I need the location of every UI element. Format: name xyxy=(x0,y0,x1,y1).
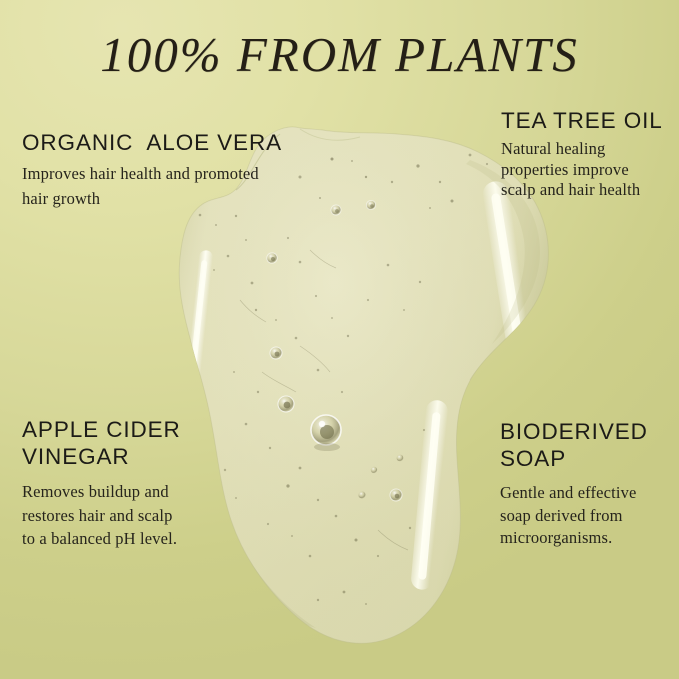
ingredient-heading-apple-cider-vinegar: APPLE CIDER VINEGAR xyxy=(22,416,262,470)
ingredient-heading-bioderived-soap: BIODERIVED SOAP xyxy=(500,418,676,472)
ingredient-body-bioderived-soap: Gentle and effective soap derived from m… xyxy=(500,482,676,550)
product-ingredients-infographic: 100% FROM PLANTS ORGANIC ALOE VERA Impro… xyxy=(0,0,679,679)
ingredient-block-bioderived-soap: BIODERIVED SOAP Gentle and effective soa… xyxy=(500,418,676,550)
ingredient-block-apple-cider-vinegar: APPLE CIDER VINEGAR Removes buildup and … xyxy=(22,416,262,551)
gel-bubble-large xyxy=(311,415,341,451)
ingredient-body-organic-aloe-vera: Improves hair health and promoted hair g… xyxy=(22,162,322,211)
page-title: 100% FROM PLANTS xyxy=(0,26,679,83)
ingredient-body-apple-cider-vinegar: Removes buildup and restores hair and sc… xyxy=(22,480,262,551)
ingredient-block-tea-tree-oil: TEA TREE OIL Natural healing properties … xyxy=(501,107,676,201)
ingredient-block-organic-aloe-vera: ORGANIC ALOE VERA Improves hair health a… xyxy=(22,129,322,211)
gel-blob-svg xyxy=(0,0,679,679)
ingredient-heading-tea-tree-oil: TEA TREE OIL xyxy=(501,107,676,134)
ingredient-heading-organic-aloe-vera: ORGANIC ALOE VERA xyxy=(22,129,322,156)
gel-blob-graphic xyxy=(0,0,679,679)
ingredient-body-tea-tree-oil: Natural healing properties improve scalp… xyxy=(501,139,676,201)
